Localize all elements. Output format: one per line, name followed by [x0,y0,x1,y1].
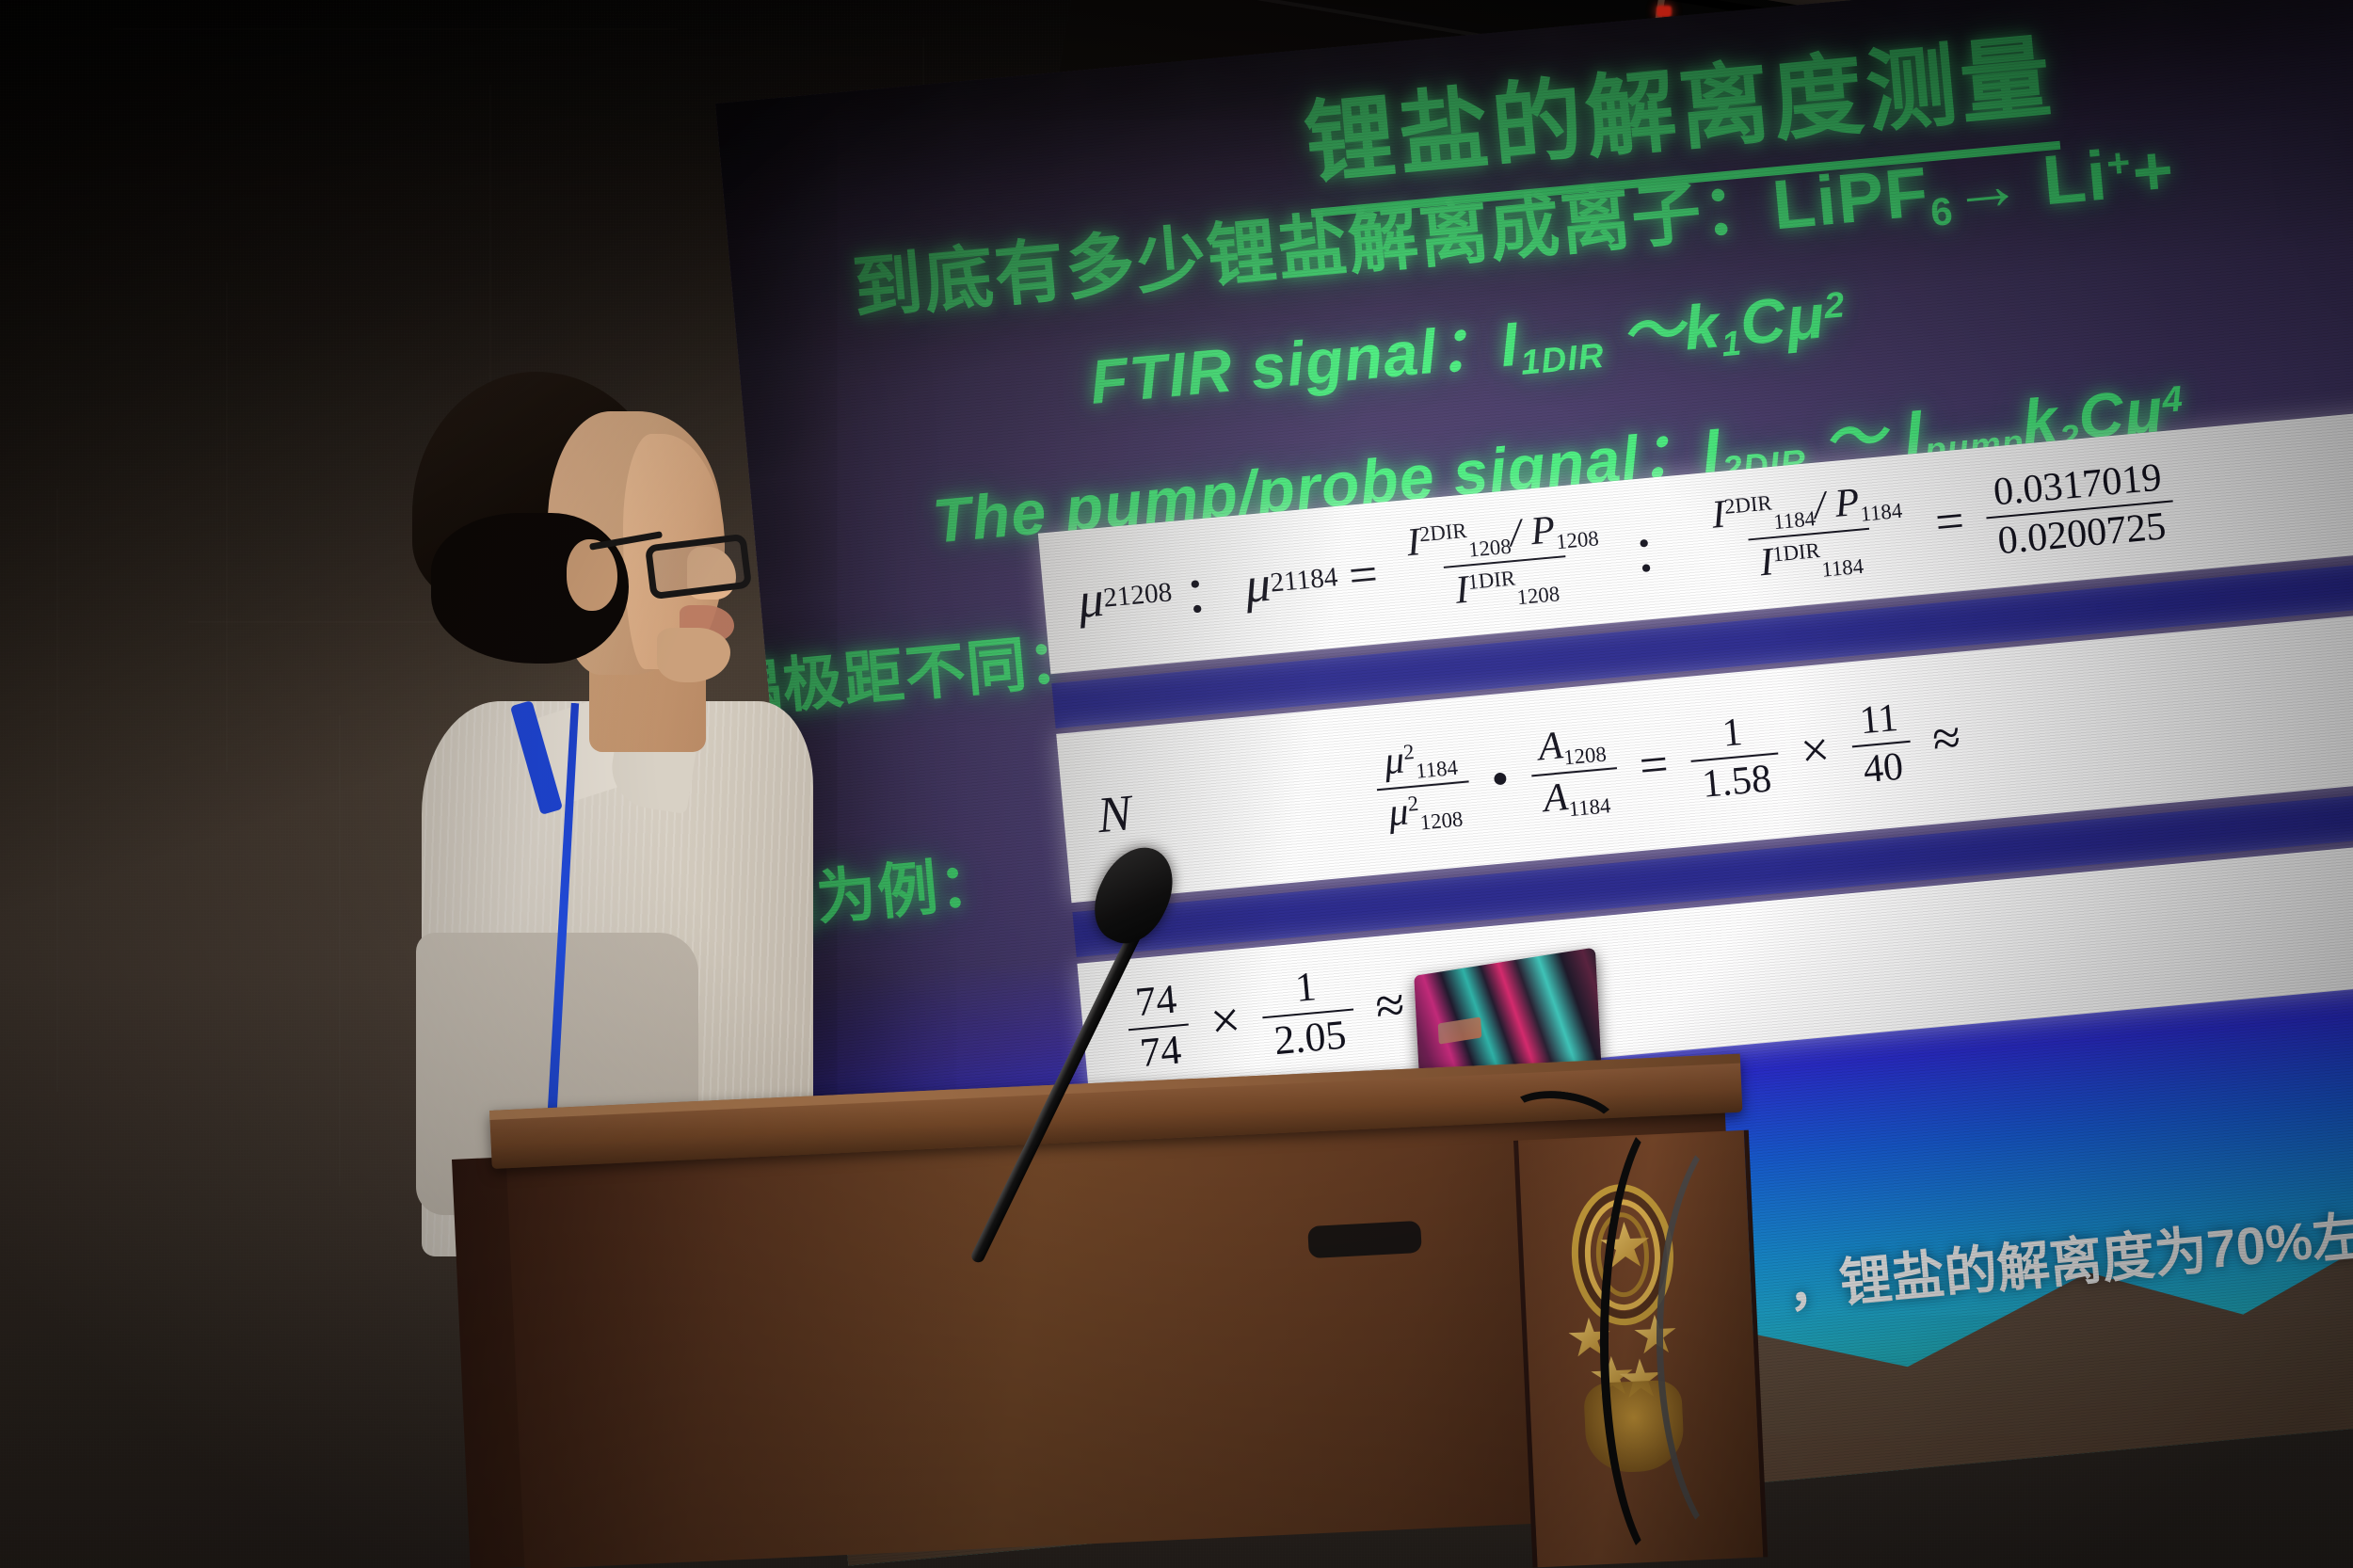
f3-frac-7474: 74 74 [1124,978,1192,1077]
f1-n2-sup: 2DIR [1723,490,1773,518]
plus-tail: + [2129,130,2178,212]
f2-A-den: A [1542,775,1570,821]
pp-mu-sup: 4 [2160,378,2185,421]
f2-A-num: A [1536,723,1564,769]
f2-times: × [1799,720,1833,781]
f1-d2-sup: 1DIR [1771,538,1821,566]
f2-mu-den-sup: 2 [1407,792,1420,816]
f1-mu-b-sub: 1184 [1283,562,1339,598]
f1-mu-b: μ [1242,554,1273,615]
f1-d1-sub: 1208 [1516,582,1561,609]
f2-frac1-den: 1.58 [1690,752,1783,807]
f2-A-den-sub: 1184 [1568,793,1612,821]
f2-equals: = [1637,734,1671,795]
f1-d2-sub: 1184 [1820,554,1865,582]
ftir-cmu: Cμ [1737,280,1828,358]
f2-mu-num-sub: 1184 [1415,756,1459,783]
f3-times: × [1208,990,1242,1053]
f1-n1-sup: 2DIR [1418,519,1468,546]
f3-frac1-num: 1 [1284,965,1327,1014]
f1-n1-sub: 1208 [1467,534,1513,561]
f1-equals-2: = [1932,491,1966,552]
f2-frac-1140: 11 40 [1848,696,1914,792]
f1-result-fraction: 0.0317019 0.0200725 [1982,456,2177,563]
f1-fraction-1184: I2DIR1184/ P1184 I1DIR1184 [1701,477,1917,592]
ftir-tilde: ～k [1600,290,1723,370]
arrow-to-li: → Li [1948,136,2111,228]
f2-dot: • [1489,749,1512,808]
f1-d1-sup: 1DIR [1466,566,1516,593]
f2-mu-fraction: μ21184 μ21208 [1372,733,1473,838]
f3-frac1-den: 2.05 [1263,1009,1358,1064]
f3-approx: ≈ [1373,975,1407,1038]
f3-frac-205: 1 2.05 [1258,963,1357,1064]
f2-approx: ≈ [1930,708,1963,768]
f1-n2-sub: 1184 [1772,506,1817,534]
ftir-label: FTIR signal： [1087,311,1503,417]
led-indicator [1657,6,1672,17]
f2-A-fraction: A1208 A1184 [1528,720,1622,824]
f2-frac2-den: 40 [1852,741,1914,792]
ftir-I-sub: 1DIR [1519,336,1607,382]
f1-n2-psub: 1184 [1859,499,1903,526]
ftir-mu-sup: 2 [1822,284,1847,327]
f1-equals: = [1346,544,1380,605]
f2-mu-num-sup: 2 [1402,740,1416,764]
f1-ratio-colon: ： [1628,508,1686,587]
speaker-chin [657,628,730,682]
f3-frac0-num: 74 [1124,978,1188,1029]
f1-n1-slash: / P [1508,507,1557,555]
f2-A-num-sub: 1208 [1562,742,1608,769]
f1-n1-psub: 1208 [1555,526,1600,553]
f3-frac0-den: 74 [1128,1023,1193,1076]
f2-mu-den-sub: 1208 [1419,807,1465,834]
f1-fraction-1208: I2DIR1208/ P1208 I1DIR1208 [1396,504,1614,619]
f1-mu-a: μ [1076,569,1107,630]
f2-N: N [1095,783,1134,844]
power-cable-grey [1657,1116,1835,1559]
presentation-photo: 锂盐的解离度测量 到底有多少锂盐解离成离子：LiPF6→ Li++ FTIR s… [0,0,2353,1568]
f1-colon: ： [1179,550,1237,629]
f2-frac1-num: 1 [1711,711,1753,759]
glasses-lens [645,534,752,600]
f1-mu-a-sub: 1208 [1115,577,1173,613]
f1-n2-slash: / P [1812,480,1861,528]
f2-frac-158: 1 1.58 [1687,708,1783,807]
f2-frac2-num: 11 [1849,696,1910,746]
microphone-base [1307,1221,1422,1258]
